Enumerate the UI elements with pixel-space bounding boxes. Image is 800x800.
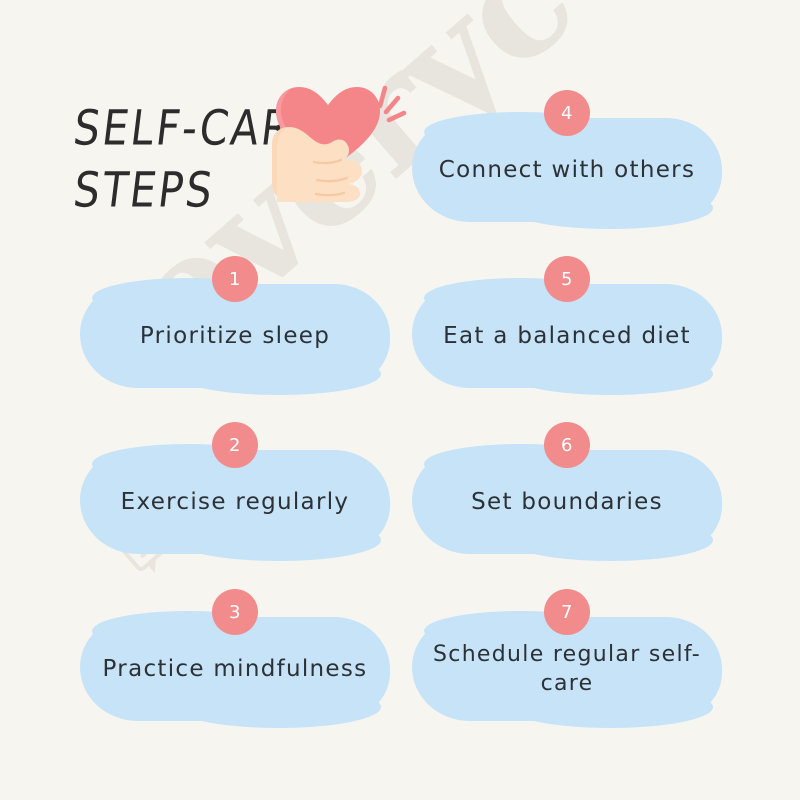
- step-card-1[interactable]: 1 Prioritize sleep: [80, 256, 390, 388]
- step-card-4[interactable]: 4 Connect with others: [412, 90, 722, 222]
- self-care-steps-poster: everycoach Self-care Steps: [0, 0, 800, 800]
- step-card-6-badge: 6: [544, 422, 590, 468]
- step-card-7-badge: 7: [544, 589, 590, 635]
- step-card-3-badge: 3: [212, 589, 258, 635]
- step-card-1-badge: 1: [212, 256, 258, 302]
- heart-in-hand-illustration: [270, 72, 410, 202]
- step-card-2-badge: 2: [212, 422, 258, 468]
- step-card-7[interactable]: 7 Schedule regular self-care: [412, 589, 722, 721]
- step-card-2[interactable]: 2 Exercise regularly: [80, 422, 390, 554]
- step-card-3[interactable]: 3 Practice mindfulness: [80, 589, 390, 721]
- step-card-5-badge: 5: [544, 256, 590, 302]
- step-card-5[interactable]: 5 Eat a balanced diet: [412, 256, 722, 388]
- step-card-6[interactable]: 6 Set boundaries: [412, 422, 722, 554]
- step-card-4-badge: 4: [544, 90, 590, 136]
- spark-lines-icon: [380, 88, 404, 120]
